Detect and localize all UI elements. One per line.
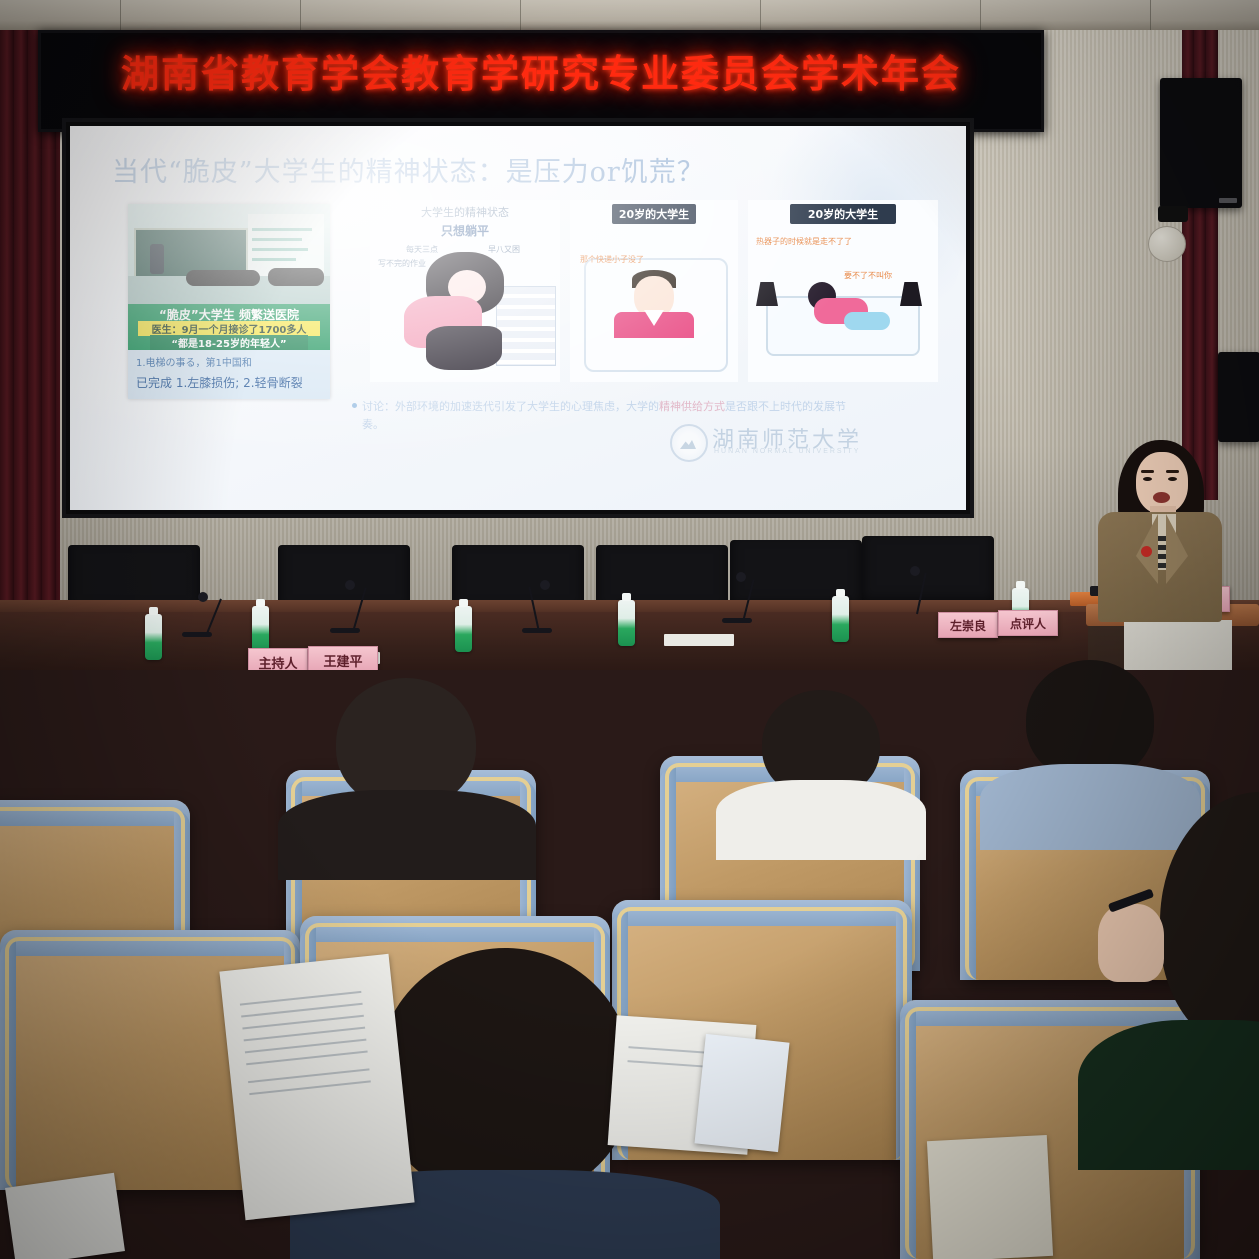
cartoon-panel-2: 20岁的大学生 那个快递小子没了 我已经躺平 xyxy=(570,200,738,382)
microphone-base-3 xyxy=(522,628,552,633)
panel-1-subcaption: 只想躺平 xyxy=(370,222,560,239)
microphone-head-1 xyxy=(198,592,208,602)
news-subhead: 医生：9月一个月接诊了1700多人 xyxy=(138,321,320,336)
university-logo: 湖南师范大学 HUNAN NORMAL UNIVERSITY xyxy=(670,422,900,462)
placard-commentator-name: 左崇良 xyxy=(938,612,998,638)
news-ticker-line-2: 已完成 1.左膝损伤; 2.轻骨断裂 xyxy=(136,374,303,391)
audience-shoulders-right xyxy=(1078,1020,1259,1170)
panel-1-bubble-1: 每天三点 xyxy=(406,244,438,255)
projection-screen-frame: 当代“脆皮”大学生的精神状态：是压力or饥荒？ “脆皮”大学生 频繁送医院 xyxy=(62,118,974,518)
speaker-face xyxy=(1136,452,1188,514)
university-name-en: HUNAN NORMAL UNIVERSITY xyxy=(714,448,860,455)
panel-1-caption: 大学生的精神状态 xyxy=(370,204,560,220)
water-bottle-4 xyxy=(618,600,635,646)
water-bottle-5 xyxy=(832,596,849,642)
booklet-center xyxy=(694,1034,789,1152)
university-seal-icon xyxy=(670,424,708,462)
news-ticker-line-1: 1.电梯の事る，第1中国和 xyxy=(136,354,252,369)
speaker-mount-right xyxy=(1158,206,1188,222)
audience-head-3 xyxy=(1026,660,1154,780)
cartoon-panel-3: 20岁的大学生 热器子的时候就是走不了了 要不了不叫你 xyxy=(748,200,938,382)
book-stack xyxy=(496,286,556,366)
news-ticker: 1.电梯の事る，第1中国和 已完成 1.左膝损伤; 2.轻骨断裂 xyxy=(128,350,330,399)
projection-screen: 当代“脆皮”大学生的精神状态：是压力or饥荒？ “脆皮”大学生 频繁送医院 xyxy=(70,126,966,510)
student-legs xyxy=(426,326,502,370)
panel-2-caption: 20岁的大学生 xyxy=(612,204,696,224)
panel-1-bubble-2: 早八又困 xyxy=(488,244,520,255)
booklet-right xyxy=(927,1135,1053,1259)
microphone-base-2 xyxy=(330,628,360,633)
panel-3-caption: 20岁的大学生 xyxy=(790,204,896,224)
audience-shoulders-3 xyxy=(980,764,1200,850)
panel-1-bubble-3: 写不完的作业 xyxy=(378,258,426,269)
microphone-head-2 xyxy=(345,580,355,590)
handout-left xyxy=(219,954,414,1220)
microphone-head-5 xyxy=(910,566,920,576)
microphone-head-3 xyxy=(540,580,550,590)
water-bottle-1 xyxy=(145,614,162,660)
bullet-marker xyxy=(352,403,357,408)
bullet-text-1: 讨论：外部环境的加速迭代引发了大学生的心理焦虑，大学的 xyxy=(362,400,659,413)
speaker-mouth xyxy=(1153,492,1170,503)
news-clipping: “脆皮”大学生 频繁送医院 医生：9月一个月接诊了1700多人 “都是18-25… xyxy=(128,204,330,399)
bullet-highlight: 精神供给方式 xyxy=(659,400,725,413)
cartoon-panel-1: 大学生的精神状态 只想躺平 每天三点 早八又困 写不完的作业 八张上学的灵魂 xyxy=(370,200,560,382)
wall-speaker-lower-right xyxy=(1218,352,1259,442)
microphone-base-4 xyxy=(722,618,752,623)
classroom-photo xyxy=(128,204,330,304)
audience-hand-right xyxy=(1098,904,1164,982)
ceiling xyxy=(0,0,1259,34)
news-tagline: “都是18-25岁的年轻人” xyxy=(150,335,308,350)
led-banner-text: 湖南省教育学会教育学研究专业委员会学术年会 xyxy=(41,43,1041,98)
head-table-chair-6 xyxy=(862,536,994,606)
water-bottle-3 xyxy=(455,606,472,652)
ceiling-dome-light xyxy=(1148,226,1186,262)
speaker-eye-left xyxy=(1143,477,1152,481)
conference-hall-photo: 湖南省教育学会教育学研究专业委员会学术年会 当代“脆皮”大学生的精神状态：是压力… xyxy=(0,0,1259,1259)
panel-3-bubble-1: 热器子的时候就是走不了了 xyxy=(756,236,852,247)
microphone-head-4 xyxy=(736,572,746,582)
led-banner: 湖南省教育学会教育学研究专业委员会学术年会 xyxy=(38,30,1044,132)
table-paper-2 xyxy=(664,634,734,646)
patient2-legs xyxy=(844,312,890,330)
audience-head-foreground xyxy=(378,948,632,1198)
panel-2-bubble-1: 那个快递小子没了 xyxy=(580,254,644,265)
news-banner: “脆皮”大学生 频繁送医院 医生：9月一个月接诊了1700多人 “都是18-25… xyxy=(128,304,330,350)
panel-3-bubble-2: 要不了不叫你 xyxy=(844,270,892,281)
slide-title: 当代“脆皮”大学生的精神状态：是压力or饥荒？ xyxy=(112,150,705,189)
placard-commentator-label: 点评人 xyxy=(998,610,1058,636)
water-bottle-2 xyxy=(252,606,269,652)
handout-bottom-left xyxy=(5,1173,125,1259)
wall-speaker-right xyxy=(1160,78,1242,208)
audience-shoulders-2 xyxy=(716,780,926,860)
microphone-base-1 xyxy=(182,632,212,637)
audience-shoulders-1 xyxy=(278,790,536,880)
speaker-badge xyxy=(1141,546,1152,557)
audience-head-1 xyxy=(336,678,476,808)
speaker-eye-right xyxy=(1168,477,1177,481)
